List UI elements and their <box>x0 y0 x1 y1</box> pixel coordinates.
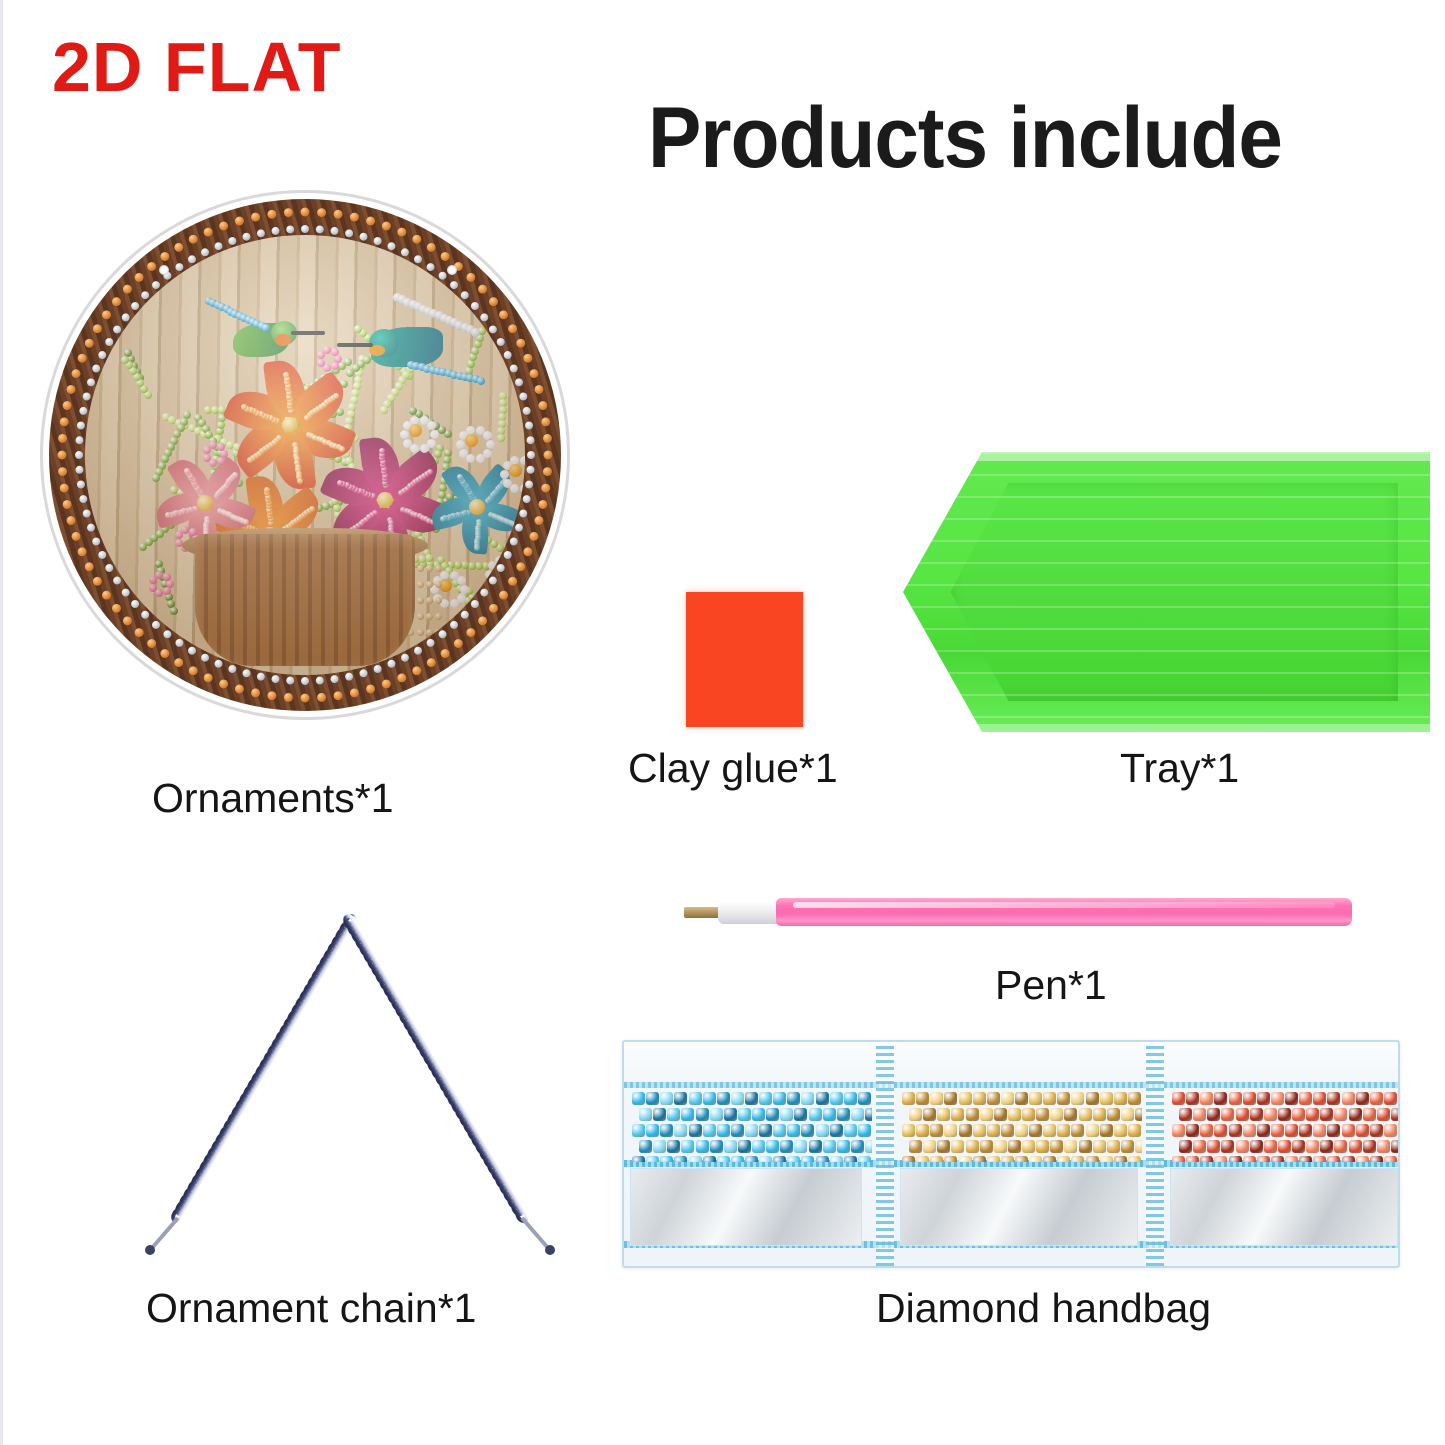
chain-svg <box>130 900 570 1270</box>
clay-glue-icon <box>686 592 803 727</box>
bag-compartment-red <box>1172 1088 1398 1162</box>
pen-icon <box>684 897 1352 927</box>
bag-foil-left <box>630 1168 862 1246</box>
pen-label: Pen*1 <box>995 962 1107 1009</box>
diamond-handbag-label: Diamond handbag <box>876 1285 1211 1332</box>
hanging-hole-left <box>159 265 169 275</box>
bag-compartment-blue <box>632 1088 872 1162</box>
hanging-hole-right <box>447 265 457 275</box>
ornament-chain-label: Ornament chain*1 <box>146 1285 476 1332</box>
pen-ferrule <box>718 902 784 924</box>
bag-foil-middle <box>900 1168 1138 1246</box>
ornaments-label: Ornaments*1 <box>152 775 394 822</box>
clay-glue-label: Clay glue*1 <box>628 745 838 792</box>
diamond-handbag-icon <box>622 1040 1400 1268</box>
ornament-image <box>40 190 570 720</box>
tray-label: Tray*1 <box>1120 745 1239 792</box>
bag-divider-1 <box>876 1042 894 1266</box>
pen-tip <box>684 907 722 918</box>
ornament-bead-ring-inner <box>43 193 567 717</box>
bag-compartment-gold <box>902 1088 1142 1162</box>
ornament-disc <box>40 190 570 720</box>
badge-2d-flat: 2D FLAT <box>52 32 342 102</box>
ornament-chain-icon <box>130 900 570 1270</box>
bag-divider-2 <box>1146 1042 1164 1266</box>
tray-lip <box>903 452 1430 732</box>
bag-foil-right <box>1170 1168 1398 1246</box>
pen-body <box>776 898 1352 926</box>
page-title: Products include <box>648 95 1282 181</box>
tray-icon <box>903 452 1430 732</box>
product-infographic-page: 2D FLAT Products include Ornaments*1 Cla… <box>0 0 1445 1445</box>
